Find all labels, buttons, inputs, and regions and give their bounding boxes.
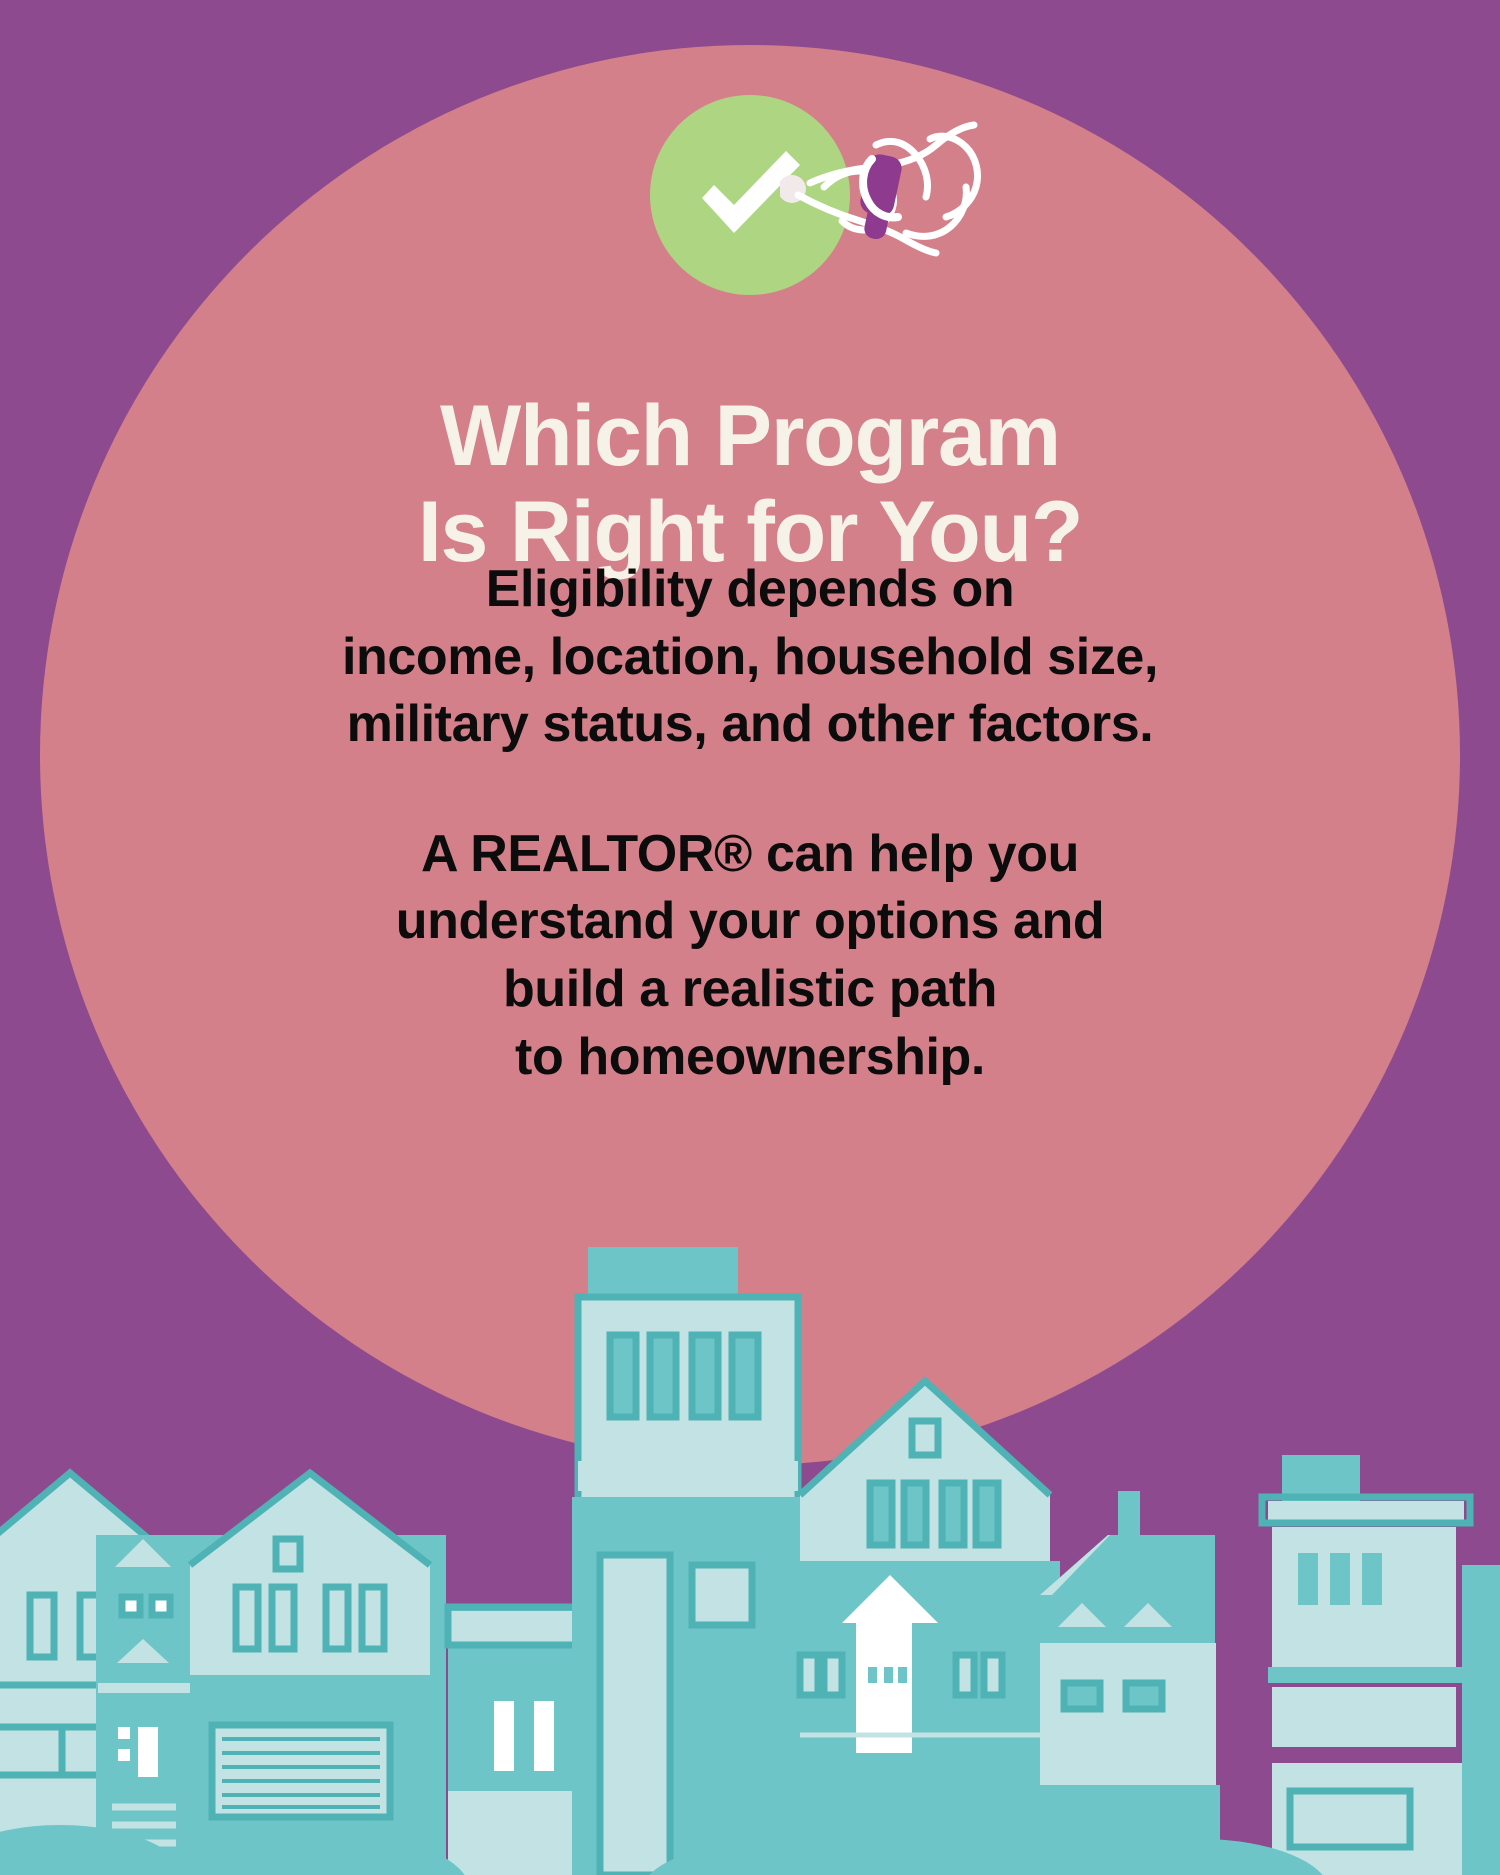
paragraph2-line-3: build a realistic path (0, 956, 1500, 1024)
body-copy: Eligibility depends on income, location,… (0, 556, 1500, 1091)
house-right-gable (790, 1381, 1060, 1875)
building-right-flat (1262, 1455, 1500, 1875)
house-column-detail (96, 1535, 191, 1875)
paragraph2-line-2: understand your options and (0, 888, 1500, 956)
building-center-tall (572, 1247, 804, 1875)
paragraph2-line-1: A REALTOR® can help you (0, 821, 1500, 889)
paragraph1-line-1: Eligibility depends on (0, 556, 1500, 624)
house-right-low (1040, 1491, 1220, 1875)
badge-group (0, 95, 1500, 295)
paragraph-eligibility: Eligibility depends on income, location,… (0, 556, 1500, 759)
page-title: Which Program Is Right for You? (0, 388, 1500, 581)
poster-canvas: Which Program Is Right for You? Eligibil… (0, 0, 1500, 1875)
house-garage (190, 1473, 430, 1875)
headline-line-1: Which Program (440, 388, 1060, 484)
paragraph2-line-4: to homeownership. (0, 1024, 1500, 1092)
paragraph1-line-2: income, location, household size, (0, 624, 1500, 692)
key-outline-icon (780, 103, 990, 273)
paragraph1-line-3: military status, and other factors. (0, 691, 1500, 759)
neighborhood-houses-illustration: .lt { fill:#C3E2E4; } .md { fill:#6EC5C7… (0, 1235, 1500, 1875)
paragraph-realtor: A REALTOR® can help you understand your … (0, 821, 1500, 1091)
